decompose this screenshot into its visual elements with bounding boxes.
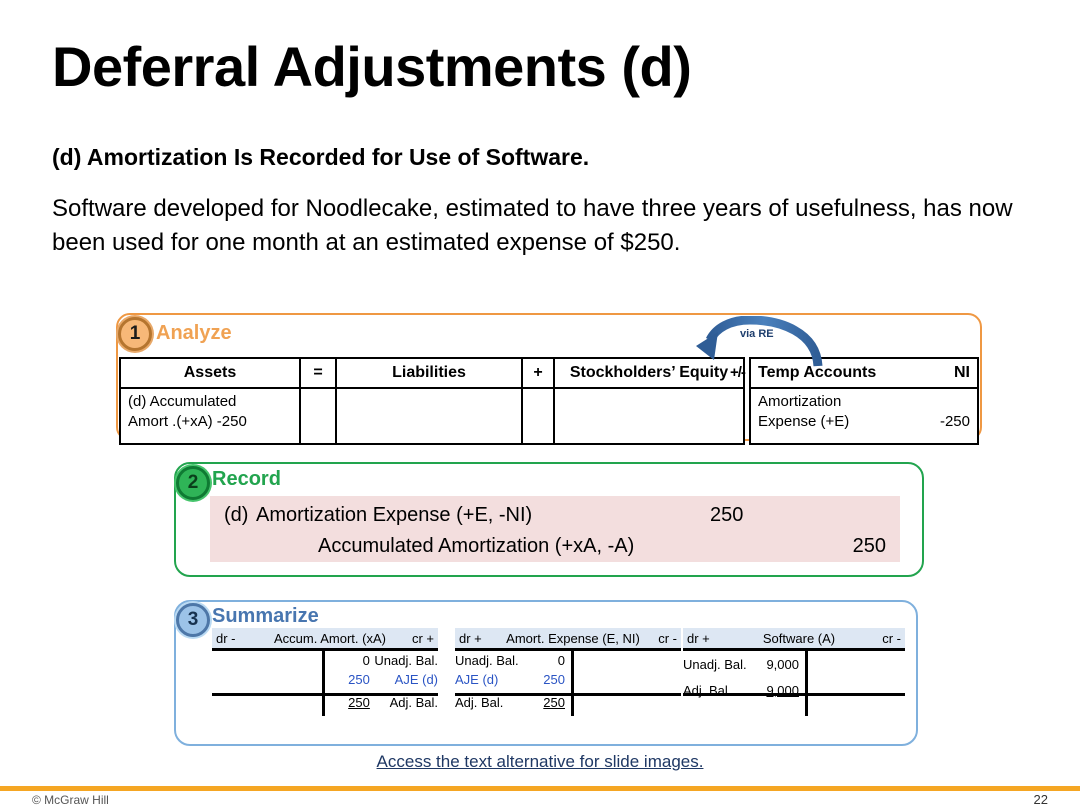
t-account-total-rule <box>212 693 438 696</box>
accounting-equation-table: Assets = Liabilities + Stockholders’ Equ… <box>119 357 745 445</box>
t-account-row: 250 AJE (d) <box>212 670 438 689</box>
header-temp-accounts-label: Temp Accounts <box>758 364 876 382</box>
table-header-row: Temp Accounts NI <box>750 358 978 388</box>
t-total-amount: 250 <box>319 693 370 712</box>
t-total-label: Adj. Bal. <box>683 681 749 700</box>
summarize-step-label: Summarize <box>212 605 319 628</box>
header-stockholders-equity: Stockholders’ Equity <box>554 358 744 388</box>
t-account-dr-label: dr + <box>687 631 733 646</box>
t-account-top-rule <box>212 648 438 651</box>
t-account-top-rule <box>683 648 905 651</box>
t-total-amount: 9,000 <box>749 681 799 700</box>
cell-plus <box>522 388 554 444</box>
header-temp-accounts: Temp Accounts NI <box>750 358 978 388</box>
t-account-amort-expense: dr + Amort. Expense (E, NI) cr - Unadj. … <box>455 628 681 710</box>
header-ni-label: NI <box>954 364 970 382</box>
t-account-row: AJE (d) 250 <box>455 670 681 689</box>
t-account-header: dr + Software (A) cr - <box>683 628 905 648</box>
temp-accounts-table: Temp Accounts NI Amortization Expense (+… <box>749 357 979 445</box>
text-alternative-link[interactable]: Access the text alternative for slide im… <box>0 752 1080 772</box>
t-total-label: Adj. Bal. <box>455 693 525 712</box>
t-account-row: Unadj. Bal. 0 <box>455 648 681 670</box>
t-account-dr-label: dr + <box>459 631 505 646</box>
t-account-body: 0 Unadj. Bal. 250 AJE (d) 250 Adj. Bal. <box>212 648 438 710</box>
temp-line-1: Amortization <box>758 392 970 412</box>
page-number: 22 <box>1034 792 1048 807</box>
t-account-cr-label: cr + <box>398 631 434 646</box>
table-header-row: Assets = Liabilities + Stockholders’ Equ… <box>120 358 744 388</box>
cell-equals <box>300 388 336 444</box>
step-badge-3: 3 <box>176 603 210 637</box>
step-badge-1: 1 <box>118 317 152 351</box>
copyright-text: © McGraw Hill <box>32 793 109 807</box>
t-row-label: AJE (d) <box>370 670 438 689</box>
plus-minus-connector: +/- <box>730 364 745 381</box>
temp-line-2: Expense (+E) <box>758 412 849 432</box>
slide-subtitle: (d) Amortization Is Recorded for Use of … <box>52 144 589 171</box>
journal-entry-row: (d) Amortization Expense (+E, -NI) 250 <box>210 500 900 531</box>
t-account-divider <box>805 648 808 716</box>
t-account-header: dr + Amort. Expense (E, NI) cr - <box>455 628 681 648</box>
t-account-total-rule <box>683 693 905 696</box>
t-account-divider <box>322 648 325 716</box>
journal-debit: 250 <box>710 500 820 531</box>
step-badge-2: 2 <box>176 466 210 500</box>
journal-ref: (d) <box>210 500 256 531</box>
journal-account: Accumulated Amortization (+xA, -A) <box>256 531 710 562</box>
t-account-dr-label: dr - <box>216 631 262 646</box>
t-account-name: Amort. Expense (E, NI) <box>505 631 641 646</box>
t-row-label: Unadj. Bal. <box>370 651 438 670</box>
assets-line-2: Amort .(+xA) -250 <box>128 412 292 432</box>
t-row-label: Unadj. Bal. <box>683 655 749 674</box>
t-account-row: Unadj. Bal. 9,000 <box>683 648 905 674</box>
t-account-body: Unadj. Bal. 9,000 Adj. Bal. 9,000 <box>683 648 905 710</box>
t-row-amount: 250 <box>319 670 370 689</box>
t-account-name: Software (A) <box>733 631 865 646</box>
t-row-amount: 9,000 <box>749 655 799 674</box>
t-account-header: dr - Accum. Amort. (xA) cr + <box>212 628 438 648</box>
t-row-amount: 0 <box>319 651 370 670</box>
t-account-body: Unadj. Bal. 0 AJE (d) 250 Adj. Bal. 250 <box>455 648 681 710</box>
assets-line-1: (d) Accumulated <box>128 392 292 412</box>
t-account-software: dr + Software (A) cr - Unadj. Bal. 9,000… <box>683 628 905 710</box>
t-row-label: Unadj. Bal. <box>455 651 525 670</box>
header-plus: + <box>522 358 554 388</box>
t-account-total-rule <box>455 693 681 696</box>
t-total-amount: 250 <box>525 693 565 712</box>
header-liabilities: Liabilities <box>336 358 522 388</box>
cell-temp-accounts: Amortization Expense (+E) -250 <box>750 388 978 444</box>
cell-liabilities <box>336 388 522 444</box>
journal-entry-row: Accumulated Amortization (+xA, -A) 250 <box>210 531 900 562</box>
t-account-cr-label: cr - <box>865 631 901 646</box>
analyze-step-label: Analyze <box>156 322 232 345</box>
t-total-label: Adj. Bal. <box>370 693 438 712</box>
t-account-divider <box>571 648 574 716</box>
t-account-row: 0 Unadj. Bal. <box>212 648 438 670</box>
journal-credit: 250 <box>820 531 900 562</box>
t-row-amount: 250 <box>525 670 565 689</box>
t-account-cr-label: cr - <box>641 631 677 646</box>
t-account-name: Accum. Amort. (xA) <box>262 631 398 646</box>
t-row-amount: 0 <box>525 651 565 670</box>
record-step-label: Record <box>212 468 281 491</box>
journal-entry-block: (d) Amortization Expense (+E, -NI) 250 A… <box>210 496 900 562</box>
footer-divider-bar <box>0 786 1080 791</box>
cell-stockholders-equity <box>554 388 744 444</box>
via-re-label: via RE <box>740 328 774 340</box>
header-assets: Assets <box>120 358 300 388</box>
cell-assets: (d) Accumulated Amort .(+xA) -250 <box>120 388 300 444</box>
table-row: (d) Accumulated Amort .(+xA) -250 <box>120 388 744 444</box>
t-account-top-rule <box>455 648 681 651</box>
journal-account: Amortization Expense (+E, -NI) <box>256 500 710 531</box>
t-account-total-row: Adj. Bal. 9,000 <box>683 674 905 700</box>
temp-amount: -250 <box>940 412 970 432</box>
slide-body-text: Software developed for Noodlecake, estim… <box>52 192 1017 260</box>
table-row: Amortization Expense (+E) -250 <box>750 388 978 444</box>
header-equals: = <box>300 358 336 388</box>
t-row-label: AJE (d) <box>455 670 525 689</box>
page-title: Deferral Adjustments (d) <box>52 38 691 97</box>
t-account-accum-amort: dr - Accum. Amort. (xA) cr + 0 Unadj. Ba… <box>212 628 438 710</box>
